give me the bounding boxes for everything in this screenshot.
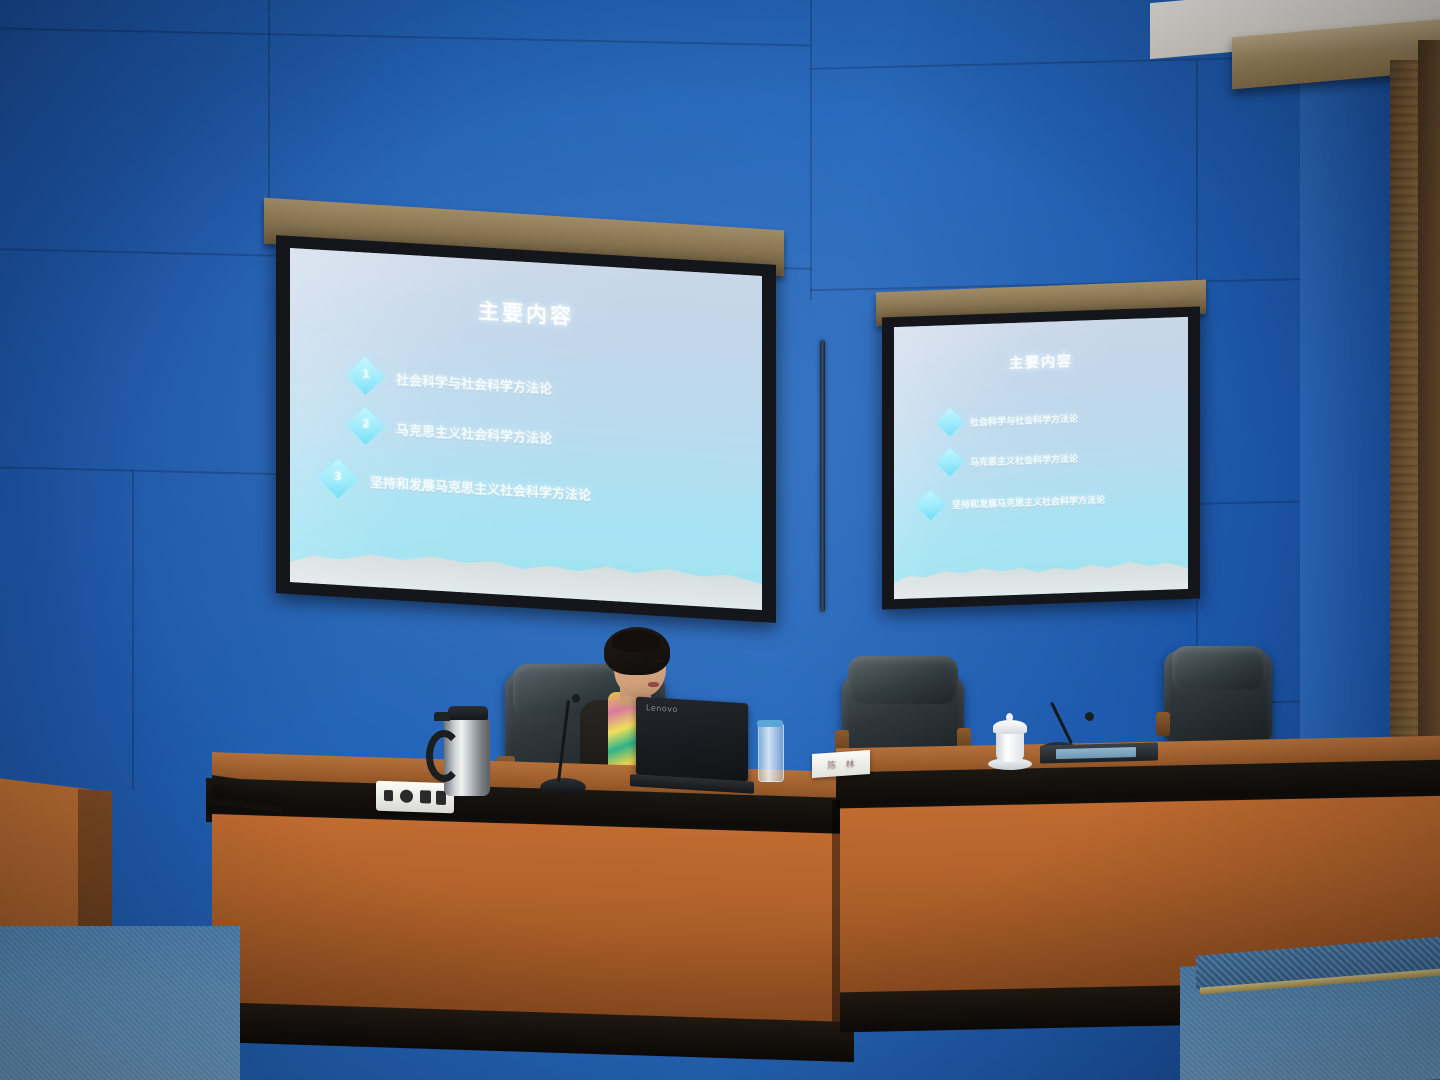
laptop-screen: Lenovo bbox=[636, 697, 748, 782]
power-socket bbox=[420, 790, 431, 803]
laptop-brand-label: Lenovo bbox=[646, 703, 678, 714]
power-socket bbox=[400, 789, 413, 802]
microphone-base bbox=[540, 778, 586, 794]
water-glass-lid bbox=[757, 720, 783, 727]
chair-armrest bbox=[1156, 712, 1170, 736]
screen-surface: 主要内容 社会科学与社会科学方法论 马克思主义社会科学方法论 坚持和发展马克思主… bbox=[894, 317, 1188, 599]
nameplate: 陈 林 bbox=[812, 750, 870, 778]
speaker-hair-fringe bbox=[612, 630, 660, 652]
power-strip[interactable] bbox=[376, 781, 454, 814]
conference-hall-photo: 主要内容 1 社会科学与社会科学方法论 2 马克思主义社会科学方法论 3 bbox=[0, 0, 1440, 1080]
water-glass-body bbox=[758, 724, 784, 782]
power-socket bbox=[384, 790, 393, 801]
screen-glare bbox=[894, 317, 1188, 599]
thermos-lid bbox=[448, 706, 488, 720]
wall-seam bbox=[810, 0, 812, 300]
screen-surface: 主要内容 1 社会科学与社会科学方法论 2 马克思主义社会科学方法论 3 bbox=[290, 248, 762, 610]
teacup-knob bbox=[1006, 713, 1013, 722]
chair-headrest bbox=[1172, 646, 1266, 690]
desk-panel-seam bbox=[832, 800, 840, 1030]
teacup-lid bbox=[993, 720, 1027, 734]
floor-carpet-left bbox=[0, 926, 240, 1080]
nameplate-char-2: 林 bbox=[846, 757, 855, 771]
chair-headrest bbox=[848, 656, 958, 704]
speaker-mouth bbox=[648, 682, 659, 687]
nameplate-char-1: 陈 bbox=[827, 758, 836, 772]
wall-seam bbox=[268, 0, 270, 222]
speaker-eye-right bbox=[654, 659, 661, 663]
wall-seam bbox=[132, 470, 134, 790]
tablet-screen bbox=[1056, 747, 1136, 759]
wall-panel-handle bbox=[820, 340, 825, 612]
thermos-handle bbox=[426, 730, 462, 782]
tablet[interactable] bbox=[1040, 742, 1158, 763]
speaker-eye-left bbox=[636, 660, 643, 664]
microphone-head bbox=[572, 694, 580, 703]
thermos-spout bbox=[434, 712, 450, 721]
screen-glare bbox=[290, 248, 762, 610]
microphone-head bbox=[1085, 712, 1094, 721]
desk-front-panel-left bbox=[212, 814, 848, 1034]
